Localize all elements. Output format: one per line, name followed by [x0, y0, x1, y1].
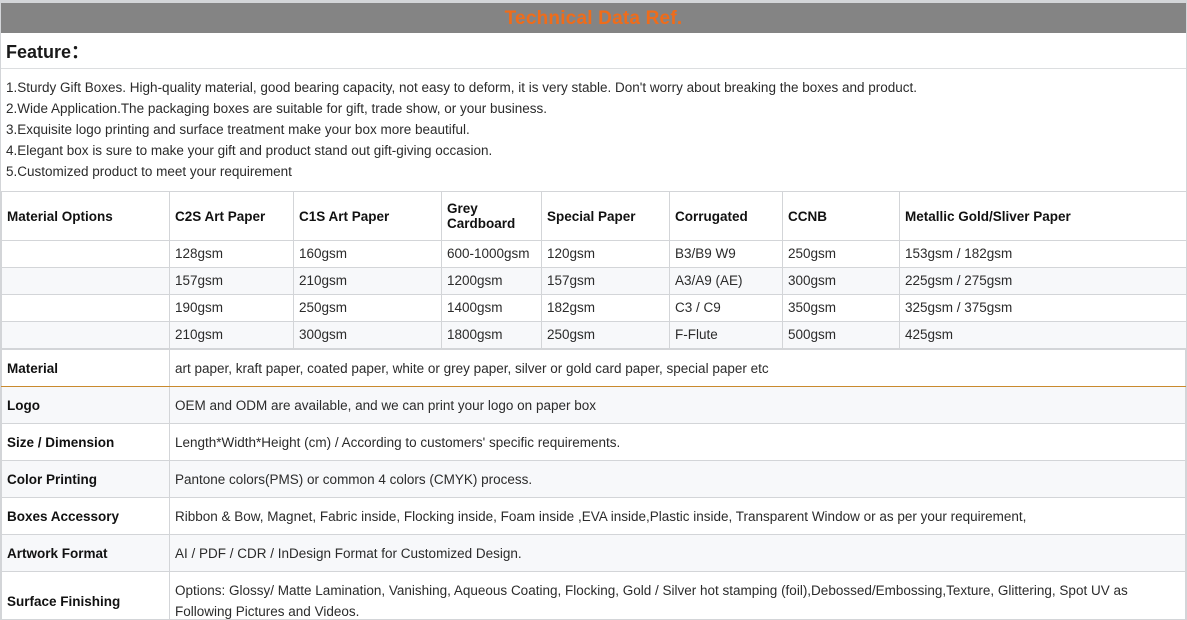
- spec-value: art paper, kraft paper, coated paper, wh…: [170, 350, 1186, 387]
- column-header-c2s-art-paper: C2S Art Paper: [170, 192, 294, 241]
- table-cell: F-Flute: [670, 322, 783, 349]
- feature-list: 1.Sturdy Gift Boxes. High-quality materi…: [1, 69, 1186, 191]
- spec-row-logo: Logo OEM and ODM are available, and we c…: [2, 387, 1186, 424]
- feature-line: 2.Wide Application.The packaging boxes a…: [6, 98, 1186, 119]
- spec-value: Pantone colors(PMS) or common 4 colors (…: [170, 461, 1186, 498]
- spec-label: Surface Finishing: [2, 572, 170, 620]
- specifications-table: Material art paper, kraft paper, coated …: [1, 349, 1186, 620]
- table-cell: 157gsm: [542, 268, 670, 295]
- table-cell: 300gsm: [294, 322, 442, 349]
- table-cell: 153gsm / 182gsm: [900, 241, 1187, 268]
- table-cell: 225gsm / 275gsm: [900, 268, 1187, 295]
- table-row: 190gsm 250gsm 1400gsm 182gsm C3 / C9 350…: [2, 295, 1187, 322]
- table-cell: 325gsm / 375gsm: [900, 295, 1187, 322]
- spec-label: Size / Dimension: [2, 424, 170, 461]
- table-cell: 1200gsm: [442, 268, 542, 295]
- spec-value: Length*Width*Height (cm) / According to …: [170, 424, 1186, 461]
- column-header-c1s-art-paper: C1S Art Paper: [294, 192, 442, 241]
- table-cell: 350gsm: [783, 295, 900, 322]
- table-cell: [2, 322, 170, 349]
- table-cell: 120gsm: [542, 241, 670, 268]
- column-header-ccnb: CCNB: [783, 192, 900, 241]
- table-cell: 1400gsm: [442, 295, 542, 322]
- table-cell: 1800gsm: [442, 322, 542, 349]
- feature-line: 3.Exquisite logo printing and surface tr…: [6, 119, 1186, 140]
- spec-value: Options: Glossy/ Matte Lamination, Vanis…: [170, 572, 1186, 620]
- spec-row-boxes-accessory: Boxes Accessory Ribbon & Bow, Magnet, Fa…: [2, 498, 1186, 535]
- spec-value: AI / PDF / CDR / InDesign Format for Cus…: [170, 535, 1186, 572]
- spec-row-material: Material art paper, kraft paper, coated …: [2, 350, 1186, 387]
- table-cell: 250gsm: [542, 322, 670, 349]
- table-cell: 160gsm: [294, 241, 442, 268]
- table-row: 210gsm 300gsm 1800gsm 250gsm F-Flute 500…: [2, 322, 1187, 349]
- spec-row-surface-finishing: Surface Finishing Options: Glossy/ Matte…: [2, 572, 1186, 620]
- column-header-special-paper: Special Paper: [542, 192, 670, 241]
- table-cell: 500gsm: [783, 322, 900, 349]
- spec-label: Logo: [2, 387, 170, 424]
- table-cell: 128gsm: [170, 241, 294, 268]
- spec-row-color-printing: Color Printing Pantone colors(PMS) or co…: [2, 461, 1186, 498]
- table-cell: A3/A9 (AE): [670, 268, 783, 295]
- table-cell: B3/B9 W9: [670, 241, 783, 268]
- feature-line: 4.Elegant box is sure to make your gift …: [6, 140, 1186, 161]
- table-cell: 300gsm: [783, 268, 900, 295]
- spec-label: Color Printing: [2, 461, 170, 498]
- table-cell: 600-1000gsm: [442, 241, 542, 268]
- spec-label: Artwork Format: [2, 535, 170, 572]
- page-title: Technical Data Ref.: [505, 9, 683, 28]
- table-cell: 210gsm: [170, 322, 294, 349]
- spec-label: Material: [2, 350, 170, 387]
- column-header-grey-cardboard: Grey Cardboard: [442, 192, 542, 241]
- column-header-corrugated: Corrugated: [670, 192, 783, 241]
- table-cell: [2, 268, 170, 295]
- spec-row-size-dimension: Size / Dimension Length*Width*Height (cm…: [2, 424, 1186, 461]
- table-row: 128gsm 160gsm 600-1000gsm 120gsm B3/B9 W…: [2, 241, 1187, 268]
- table-cell: 250gsm: [783, 241, 900, 268]
- material-options-table: Material Options C2S Art Paper C1S Art P…: [1, 191, 1187, 349]
- feature-line: 1.Sturdy Gift Boxes. High-quality materi…: [6, 77, 1186, 98]
- page-banner: Technical Data Ref.: [1, 0, 1186, 33]
- table-cell: [2, 295, 170, 322]
- column-header-metallic-paper: Metallic Gold/Sliver Paper: [900, 192, 1187, 241]
- feature-heading: Feature：: [6, 38, 89, 64]
- feature-heading-row: Feature：: [1, 33, 1186, 69]
- table-header-row: Material Options C2S Art Paper C1S Art P…: [2, 192, 1187, 241]
- column-header-material-options: Material Options: [2, 192, 170, 241]
- table-row: 157gsm 210gsm 1200gsm 157gsm A3/A9 (AE) …: [2, 268, 1187, 295]
- technical-data-sheet: Technical Data Ref. Feature： 1.Sturdy Gi…: [0, 0, 1187, 620]
- table-cell: 250gsm: [294, 295, 442, 322]
- spec-label: Boxes Accessory: [2, 498, 170, 535]
- table-cell: 182gsm: [542, 295, 670, 322]
- table-cell: 157gsm: [170, 268, 294, 295]
- table-cell: 210gsm: [294, 268, 442, 295]
- spec-value: Ribbon & Bow, Magnet, Fabric inside, Flo…: [170, 498, 1186, 535]
- table-cell: [2, 241, 170, 268]
- table-cell: 190gsm: [170, 295, 294, 322]
- spec-row-artwork-format: Artwork Format AI / PDF / CDR / InDesign…: [2, 535, 1186, 572]
- feature-line: 5.Customized product to meet your requir…: [6, 161, 1186, 182]
- spec-value: OEM and ODM are available, and we can pr…: [170, 387, 1186, 424]
- table-cell: C3 / C9: [670, 295, 783, 322]
- table-cell: 425gsm: [900, 322, 1187, 349]
